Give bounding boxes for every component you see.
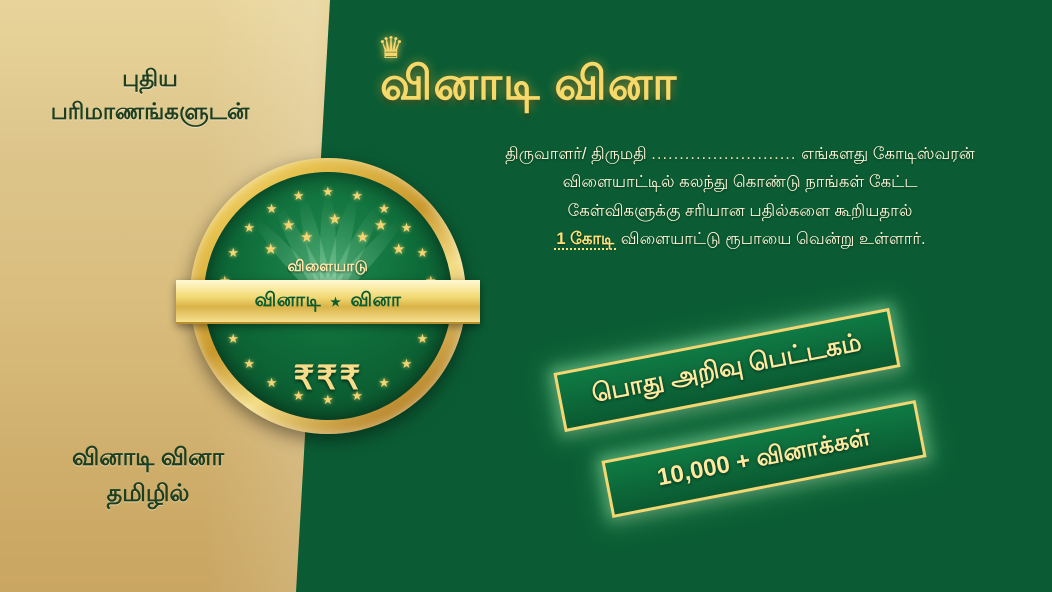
coin-star-icon: ★ [378,202,390,215]
coin-star-icon: ★ [322,185,334,198]
left-top-line1: புதிய [122,65,178,91]
coin-star-icon: ★ [293,189,305,202]
coin-ribbon: வினாடி ★ வினா [176,280,480,324]
coin-currency-symbols: ₹₹₹ [204,358,452,397]
coin-ribbon-dot-icon: ★ [330,295,341,309]
coin-star-icon: ★ [328,212,341,227]
left-bottom-line1: வினாடி வினா [72,444,224,471]
coin-star-icon: ★ [243,221,255,234]
coin-star-icon: ★ [392,242,405,257]
coin-star-icon: ★ [300,230,313,245]
coin-star-icon: ★ [374,218,387,233]
paragraph-prize-amount: 1 கோடி [554,230,616,250]
coin-ribbon-left: வினாடி [255,290,322,314]
coin-star-icon: ★ [266,202,278,215]
left-top-line2: பரிமாணங்களுடன் [0,95,300,128]
coin-star-icon: ★ [351,189,363,202]
left-bottom-text: வினாடி வினா தமிழில் [0,440,296,512]
coin-star-icon: ★ [417,246,429,259]
paragraph-name-blank: .......................... [651,145,796,163]
paragraph-line2: விளையாட்டில் கலந்து கொண்டு நாங்கள் கேட்ட [563,173,918,191]
coin-label-top: விளையாடு [204,258,452,277]
left-bottom-line2: தமிழில் [107,480,190,507]
coin-star-icon: ★ [227,246,239,259]
certificate-paragraph: திருவாளர்/ திருமதி .....................… [470,140,1010,254]
paragraph-line4-b: விளையாட்டு ரூபாயை வென்று உள்ளார். [621,230,926,248]
paragraph-line3: கேள்விகளுக்கு சரியான பதில்களை கூறியதால் [568,202,913,220]
coin-star-icon: ★ [282,218,295,233]
coin-star-icon: ★ [264,242,277,257]
coin-star-icon: ★ [401,221,413,234]
paragraph-line1-a: திருவாளர்/ திருமதி [505,145,647,163]
coin-ribbon-right: வினா [350,290,401,314]
paragraph-line1-b: எங்களது கோடிஸ்வரன் [801,145,975,163]
coin-star-icon: ★ [227,332,239,345]
left-top-text: புதிய பரிமாணங்களுடன் [0,62,300,127]
coin-star-icon: ★ [356,230,369,245]
poster-canvas: புதிய பரிமாணங்களுடன் வினாடி வினா தமிழில்… [0,0,1052,592]
coin-star-icon: ★ [417,332,429,345]
page-title: வினாடி வினா [380,56,940,117]
coin-badge: ★★★★★★★★★★★★★★★★★★★★★★★★★★★★★ விளையாடு ₹… [190,158,466,434]
